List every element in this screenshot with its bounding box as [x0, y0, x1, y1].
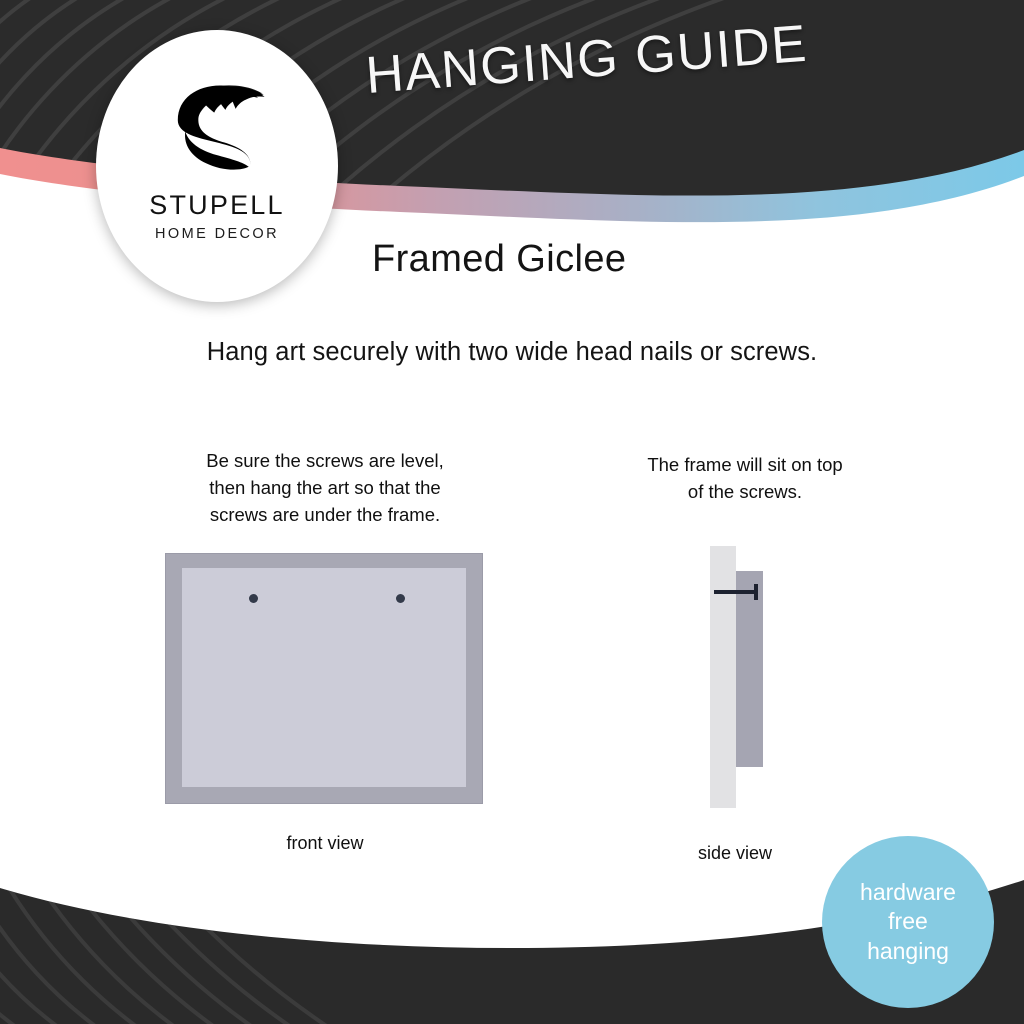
side-view-caption: The frame will sit on top of the screws.	[600, 452, 890, 506]
brand-logo-badge: STUPELL HOME DECOR	[96, 30, 338, 302]
stupell-swoosh-icon	[161, 66, 273, 178]
front-view-caption-line-1: Be sure the screws are level,	[150, 448, 500, 475]
nail-head-icon	[754, 584, 758, 600]
screw-dot-left-icon	[249, 594, 258, 603]
hanging-guide-page: STUPELL HOME DECOR HANGING GUIDE Framed …	[0, 0, 1024, 1024]
logo-wordmark: STUPELL	[149, 190, 284, 221]
lead-instruction: Hang art securely with two wide head nai…	[0, 338, 1024, 367]
front-view-mat	[182, 568, 466, 787]
side-view-label: side view	[630, 843, 840, 864]
screw-dot-right-icon	[396, 594, 405, 603]
logo-tagline: HOME DECOR	[155, 226, 279, 242]
side-view-caption-line-2: of the screws.	[600, 479, 890, 506]
front-view-caption: Be sure the screws are level, then hang …	[150, 448, 500, 528]
side-view-frame	[736, 571, 763, 767]
badge-line-3: hanging	[867, 937, 949, 966]
front-view-caption-line-3: screws are under the frame.	[150, 502, 500, 529]
side-view-diagram	[710, 546, 784, 808]
badge-line-1: hardware	[860, 878, 956, 907]
page-title: HANGING GUIDE	[364, 14, 810, 106]
front-view-caption-line-2: then hang the art so that the	[150, 475, 500, 502]
nail-shaft-icon	[714, 590, 757, 594]
front-view-diagram	[165, 553, 483, 804]
hardware-free-hanging-badge: hardware free hanging	[822, 836, 994, 1008]
product-name: Framed Giclee	[372, 238, 626, 281]
badge-line-2: free	[888, 907, 928, 936]
front-view-label: front view	[190, 833, 460, 854]
side-view-wall	[710, 546, 736, 808]
side-view-caption-line-1: The frame will sit on top	[600, 452, 890, 479]
